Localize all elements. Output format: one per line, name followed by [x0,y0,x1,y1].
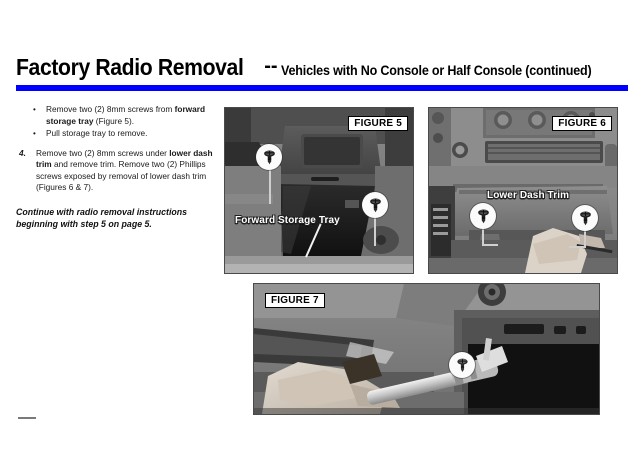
screw-icon [261,149,278,166]
figure-6-plate: FIGURE 6 [552,116,612,131]
numbered-step-4: 4. Remove two (2) 8mm screws under lower… [14,148,220,194]
list-item: • Remove two (2) 8mm screws from forward… [14,104,220,127]
figure-5-plate: FIGURE 5 [348,116,408,131]
instructions-column: • Remove two (2) 8mm screws from forward… [14,104,220,194]
page-header: Factory Radio Removal -- Vehicles with N… [16,54,628,86]
callout-leader-right-horiz [569,246,585,248]
list-item: • Pull storage tray to remove. [14,128,220,140]
screw-icon [367,197,384,214]
figure-7-plate: FIGURE 7 [265,293,325,308]
footer-divider-rule [18,417,36,419]
screw-callout-phillips-icon [449,352,475,378]
figure-5-photo [225,108,413,273]
title-separator-dashes: -- [264,55,277,78]
page-subtitle: Vehicles with No Console or Half Console… [281,63,592,78]
callout-leader-left-horiz [482,244,498,246]
callout-leader-right [374,218,376,246]
continue-note: Continue with radio removal instructions… [16,206,216,230]
screw-icon [577,210,594,227]
figure-7-panel: FIGURE 7 [253,283,600,415]
step-text: Remove two (2) 8mm screws under lower da… [36,148,213,193]
screw-callout-left-icon [470,203,496,229]
bullet-marker-icon: • [33,128,36,140]
screw-icon [475,208,492,225]
bullet-marker-icon: • [33,104,36,116]
title-row: Factory Radio Removal -- Vehicles with N… [16,54,628,81]
figure-5-overlay-label: Forward Storage Tray [235,215,340,226]
figure-6-overlay-label: Lower Dash Trim [487,190,569,201]
bullet-list: • Remove two (2) 8mm screws from forward… [14,104,220,140]
bullet-text: Pull storage tray to remove. [46,128,147,138]
screw-callout-right-icon [572,205,598,231]
screw-callout-right-icon [362,192,388,218]
bullet-text: Remove two (2) 8mm screws from forward s… [46,104,205,126]
figure-5-panel: Forward Storage Tray FIGURE [224,107,414,274]
screw-callout-left-icon [256,144,282,170]
phillips-screw-icon [454,357,471,374]
header-divider-rule [16,85,628,91]
figure-6-panel: Lower Dash Trim FIGURE 6 [428,107,618,274]
callout-leader-left [269,170,271,204]
step-number: 4. [19,148,26,160]
page-title: Factory Radio Removal [16,54,243,81]
